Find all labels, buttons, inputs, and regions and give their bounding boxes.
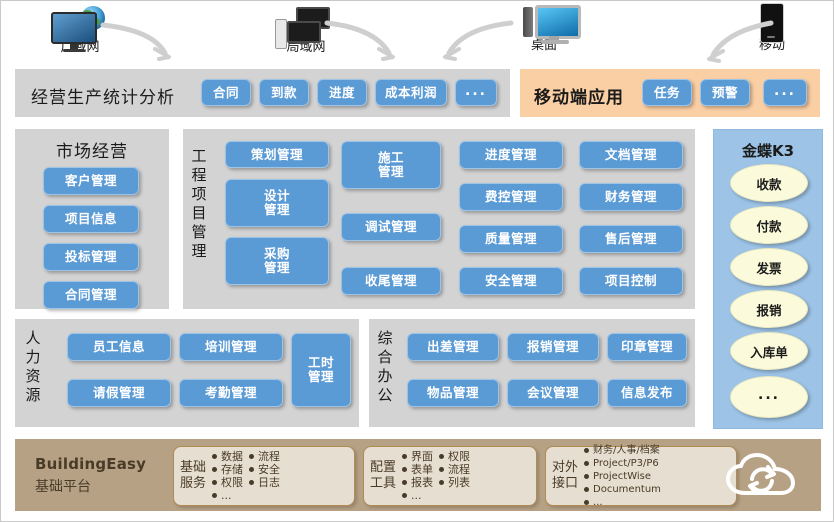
analysis-button-3[interactable]: 成本利润 xyxy=(375,79,447,106)
analysis-button-more[interactable]: ... xyxy=(455,79,497,106)
mobile-app-button-0[interactable]: 任务 xyxy=(642,79,692,106)
market-panel: 市场经营 客户管理 项目信息 投标管理 合同管理 xyxy=(15,129,169,309)
platform-card-config-tool: 配置 工具 界面 表单 报表 ... 权限 流程 列表 xyxy=(363,446,537,506)
flow-arrow-mobile-icon xyxy=(701,19,777,65)
platform-card-config-tool-list-right: 权限 流程 列表 xyxy=(439,450,470,502)
engineering-button-control[interactable]: 项目控制 xyxy=(579,267,683,295)
market-button-2[interactable]: 投标管理 xyxy=(43,243,139,271)
office-button-meeting[interactable]: 会议管理 xyxy=(507,379,599,407)
mobile-app-band: 移动端应用 任务 预警 ... xyxy=(520,69,820,117)
hr-button-attendance[interactable]: 考勤管理 xyxy=(179,379,283,407)
platform-card-base-service-list-right: 流程 安全 日志 xyxy=(249,450,280,502)
analysis-button-0[interactable]: 合同 xyxy=(201,79,251,106)
engineering-button-document[interactable]: 文档管理 xyxy=(579,141,683,169)
engineering-button-finance[interactable]: 财务管理 xyxy=(579,183,683,211)
platform-card-config-tool-label: 配置 工具 xyxy=(364,460,402,492)
engineering-button-quality[interactable]: 质量管理 xyxy=(459,225,563,253)
device-row: 广域网 局域网 桌面 xyxy=(1,1,834,69)
engineering-button-commissioning[interactable]: 调试管理 xyxy=(341,213,441,241)
analysis-button-1[interactable]: 到款 xyxy=(259,79,309,106)
office-panel-title: 综合办公 xyxy=(375,329,395,405)
cloud-sync-icon xyxy=(725,453,799,499)
flow-arrow-lan-icon xyxy=(323,17,403,63)
office-button-reimburse[interactable]: 报销管理 xyxy=(507,333,599,361)
platform-brand-cn: 基础平台 xyxy=(35,476,146,496)
k3-panel-title: 金蝶K3 xyxy=(714,140,822,161)
market-button-3[interactable]: 合同管理 xyxy=(43,281,139,309)
engineering-panel: 工程项目管理 策划管理 设计 管理 采购 管理 施工 管理 调试管理 收尾管理 … xyxy=(183,129,695,309)
engineering-button-aftersales[interactable]: 售后管理 xyxy=(579,225,683,253)
k3-item-2[interactable]: 发票 xyxy=(730,248,808,286)
engineering-button-design[interactable]: 设计 管理 xyxy=(225,179,329,227)
k3-item-0[interactable]: 收款 xyxy=(730,164,808,202)
office-button-seal[interactable]: 印章管理 xyxy=(607,333,687,361)
hr-button-leave[interactable]: 请假管理 xyxy=(67,379,171,407)
platform-card-base-service-label: 基础 服务 xyxy=(174,460,212,492)
hr-panel-title: 人力资源 xyxy=(23,329,43,405)
hr-button-employee[interactable]: 员工信息 xyxy=(67,333,171,361)
engineering-button-closeout[interactable]: 收尾管理 xyxy=(341,267,441,295)
engineering-panel-title: 工程项目管理 xyxy=(189,147,209,261)
market-button-0[interactable]: 客户管理 xyxy=(43,167,139,195)
platform-bar: BuildingEasy 基础平台 基础 服务 数据 存储 权限 ... 流程 … xyxy=(15,439,821,511)
office-button-goods[interactable]: 物品管理 xyxy=(407,379,499,407)
engineering-button-construction[interactable]: 施工 管理 xyxy=(341,141,441,189)
flow-arrow-desktop-icon xyxy=(435,17,515,63)
platform-card-base-service-list-left: 数据 存储 权限 ... xyxy=(212,450,243,502)
architecture-diagram: 广域网 局域网 桌面 xyxy=(0,0,834,522)
analysis-band: 经营生产统计分析 合同 到款 进度 成本利润 ... xyxy=(15,69,510,117)
office-button-publish[interactable]: 信息发布 xyxy=(607,379,687,407)
office-panel: 综合办公 出差管理 报销管理 印章管理 物品管理 会议管理 信息发布 xyxy=(369,319,695,427)
platform-card-base-service: 基础 服务 数据 存储 权限 ... 流程 安全 日志 xyxy=(173,446,355,506)
k3-item-3[interactable]: 报销 xyxy=(730,290,808,328)
office-button-travel[interactable]: 出差管理 xyxy=(407,333,499,361)
mobile-app-band-title: 移动端应用 xyxy=(534,83,624,108)
platform-brand: BuildingEasy 基础平台 xyxy=(35,455,146,496)
platform-card-external-interface-list: 财务/人事/档案 Project/P3/P6 ProjectWise Docum… xyxy=(584,444,661,509)
k3-panel: 金蝶K3 收款 付款 发票 报销 入库单 ... xyxy=(713,129,823,429)
flow-arrow-wan-icon xyxy=(99,19,179,63)
analysis-button-2[interactable]: 进度 xyxy=(317,79,367,106)
platform-card-external-interface: 对外 接口 财务/人事/档案 Project/P3/P6 ProjectWise… xyxy=(545,446,737,506)
mobile-app-button-1[interactable]: 预警 xyxy=(700,79,750,106)
analysis-band-title: 经营生产统计分析 xyxy=(31,83,175,108)
k3-item-4[interactable]: 入库单 xyxy=(730,332,808,370)
platform-brand-en: BuildingEasy xyxy=(35,455,146,473)
market-button-1[interactable]: 项目信息 xyxy=(43,205,139,233)
hr-panel: 人力资源 员工信息 培训管理 请假管理 考勤管理 工时 管理 xyxy=(15,319,359,427)
platform-card-external-interface-label: 对外 接口 xyxy=(546,460,584,492)
market-panel-title: 市场经营 xyxy=(15,137,169,162)
engineering-button-cost[interactable]: 费控管理 xyxy=(459,183,563,211)
hr-button-training[interactable]: 培训管理 xyxy=(179,333,283,361)
engineering-button-safety[interactable]: 安全管理 xyxy=(459,267,563,295)
k3-item-1[interactable]: 付款 xyxy=(730,206,808,244)
mobile-app-button-more[interactable]: ... xyxy=(763,79,807,106)
hr-button-timesheet[interactable]: 工时 管理 xyxy=(291,333,351,407)
engineering-button-schedule[interactable]: 进度管理 xyxy=(459,141,563,169)
platform-card-config-tool-list-left: 界面 表单 报表 ... xyxy=(402,450,433,502)
engineering-button-plan[interactable]: 策划管理 xyxy=(225,141,329,168)
engineering-button-purchase[interactable]: 采购 管理 xyxy=(225,237,329,285)
k3-item-more[interactable]: ... xyxy=(730,376,808,418)
